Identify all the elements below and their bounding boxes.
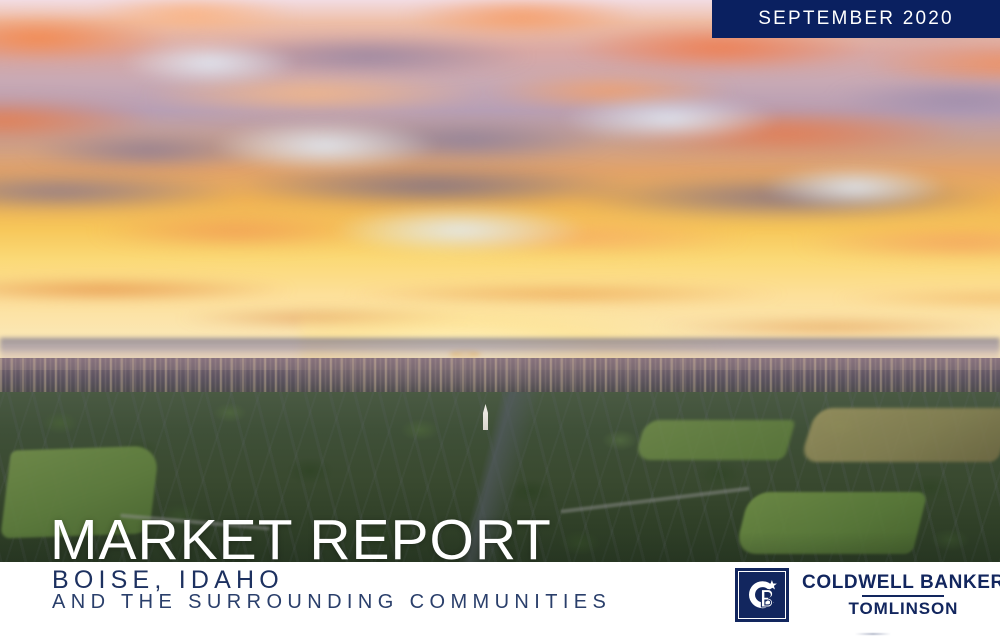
logo-wordmark: COLDWELL BANKER TOMLINSON — [802, 572, 1000, 618]
sky-opening-right — [560, 95, 780, 143]
green-field-upper — [634, 420, 795, 460]
date-banner: SEPTEMBER 2020 — [712, 0, 1000, 38]
page-title: MARKET REPORT — [50, 512, 552, 569]
hero-photo — [0, 0, 1000, 562]
cb-monogram-icon — [735, 568, 789, 622]
logo-affiliate-name: TOMLINSON — [849, 599, 959, 618]
sky-opening-far-right — [760, 165, 950, 209]
subtitle-scope: AND THE SURROUNDING COMMUNITIES — [52, 592, 611, 613]
tan-field — [799, 408, 1000, 462]
logo-brand-name: COLDWELL BANKER — [802, 572, 1000, 593]
coldwell-banker-logo: COLDWELL BANKER TOMLINSON — [735, 568, 1000, 622]
sky-opening-center — [210, 120, 440, 172]
cb-monogram-border — [738, 571, 786, 619]
date-banner-label: SEPTEMBER 2020 — [758, 8, 954, 30]
report-cover-page: SEPTEMBER 2020 MARKET REPORT BOISE, IDAH… — [0, 0, 1000, 640]
sky-opening-left — [120, 40, 300, 86]
page-bottom-artifact — [855, 633, 891, 635]
sky-opening-mid-low — [330, 205, 590, 255]
subtitle-location: BOISE, IDAHO — [52, 567, 284, 593]
logo-divider-rule — [862, 595, 944, 597]
